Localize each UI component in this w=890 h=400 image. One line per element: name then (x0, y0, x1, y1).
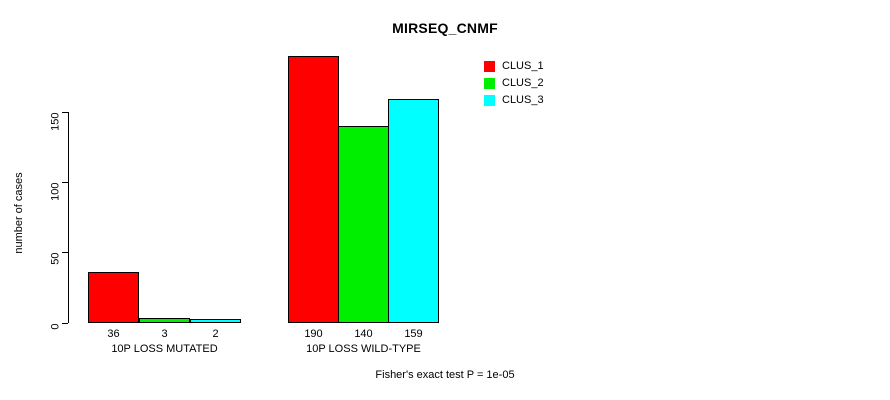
bar-group-mutated (88, 53, 241, 323)
legend-item-clus1[interactable]: CLUS_1 (484, 58, 544, 75)
y-tick-label-150: 150 (51, 113, 62, 153)
y-tick-mark-0 (62, 323, 68, 324)
y-tick-mark-150 (62, 112, 68, 113)
bar-value-clus2-mutated: 3 (139, 328, 190, 340)
y-tick-label-50: 50 (51, 253, 62, 293)
legend: CLUS_1 CLUS_2 CLUS_3 (484, 58, 544, 109)
y-tick-label-100: 100 (51, 183, 62, 223)
legend-label-clus2: CLUS_2 (502, 78, 544, 89)
legend-label-clus1: CLUS_1 (502, 61, 544, 72)
bar-clus2-wild-type[interactable] (338, 126, 389, 323)
chart-title: MIRSEQ_CNMF (0, 20, 890, 36)
bar-clus3-wild-type[interactable] (388, 99, 439, 323)
bar-value-clus3-mutated: 2 (190, 328, 241, 340)
bar-clus1-mutated[interactable] (88, 272, 139, 323)
y-axis-line (68, 112, 69, 323)
legend-swatch-icon (484, 95, 495, 106)
y-axis-title: number of cases (13, 143, 25, 283)
fisher-test-annotation: Fisher's exact test P = 1e-05 (0, 369, 890, 381)
legend-item-clus3[interactable]: CLUS_3 (484, 92, 544, 109)
bar-clus1-wild-type[interactable] (288, 56, 339, 323)
bar-chart-figure: MIRSEQ_CNMF 0 50 100 150 number of cases… (0, 0, 890, 400)
y-tick-mark-100 (62, 182, 68, 183)
bar-value-clus1-mutated: 36 (88, 328, 139, 340)
bar-value-clus2-wild-type: 140 (338, 328, 389, 340)
bar-value-clus3-wild-type: 159 (388, 328, 439, 340)
y-tick-label-0: 0 (51, 324, 62, 364)
bar-group-wild-type (288, 53, 439, 323)
group-label-mutated: 10P LOSS MUTATED (88, 343, 241, 355)
legend-item-clus2[interactable]: CLUS_2 (484, 75, 544, 92)
bar-clus3-mutated[interactable] (190, 319, 241, 323)
legend-swatch-icon (484, 78, 495, 89)
bar-clus2-mutated[interactable] (139, 318, 190, 323)
bar-value-clus1-wild-type: 190 (288, 328, 339, 340)
y-tick-mark-50 (62, 252, 68, 253)
group-label-wild-type: 10P LOSS WILD-TYPE (288, 343, 439, 355)
legend-swatch-icon (484, 61, 495, 72)
legend-label-clus3: CLUS_3 (502, 95, 544, 106)
